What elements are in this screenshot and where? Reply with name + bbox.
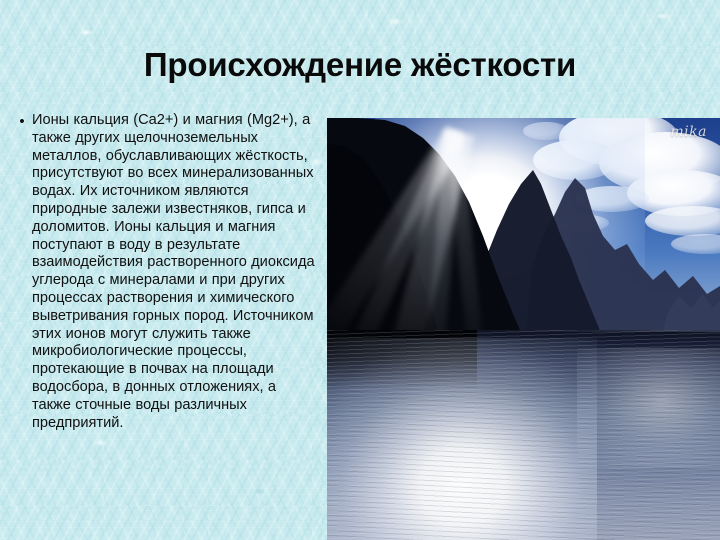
bullet-list-item: • Ионы кальция (Ca2+) и магния (Mg2+), а… — [12, 112, 318, 432]
slide-title: Происхождение жёсткости — [0, 46, 720, 84]
photo-watermark: mika — [670, 124, 707, 140]
slide-photo: mika — [327, 118, 720, 540]
mountain-silhouette — [327, 118, 720, 358]
bullet-marker-icon: • — [12, 112, 32, 131]
photo-water — [327, 330, 720, 540]
water-ripples — [327, 330, 720, 540]
slide-body-text-block: • Ионы кальция (Ca2+) и магния (Mg2+), а… — [12, 112, 318, 432]
presentation-slide: Происхождение жёсткости • Ионы кальция (… — [0, 0, 720, 540]
bullet-item-text: Ионы кальция (Ca2+) и магния (Mg2+), а т… — [32, 112, 318, 432]
